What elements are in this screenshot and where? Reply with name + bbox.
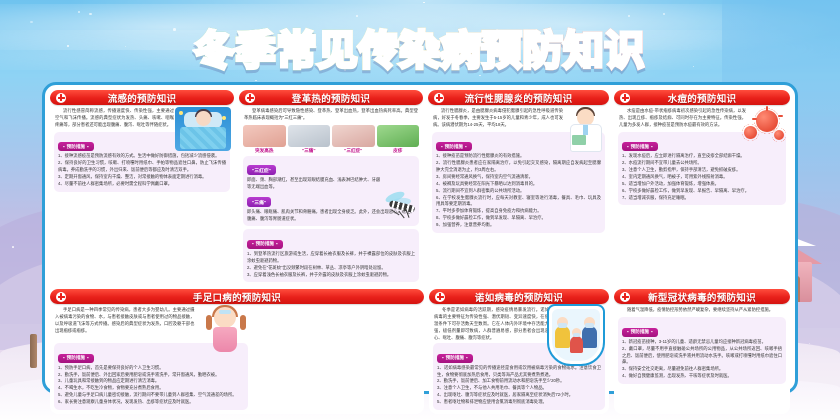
fever-face-photo bbox=[243, 125, 286, 147]
panel-title-norovirus: 诺如病毒的预防知识 bbox=[445, 290, 593, 304]
virus-illustration bbox=[742, 106, 788, 146]
panel-norovirus: 诺如病毒的预防知识 冬季是诺如病毒的活跃期，感染疫情易暴发流行。诺如病毒的主要特… bbox=[429, 289, 609, 414]
red-flush-photo bbox=[332, 125, 375, 147]
panel-header-flu: 流感的预防知识 bbox=[50, 90, 234, 105]
panel-hfmd: 手足口病的预防知识 手足口病是一种四季常见的传染病，患者大多为婴幼儿。主要通过摄… bbox=[50, 289, 424, 414]
panel-mumps: 流行性腮腺炎的预防知识 流行性腮腺炎，是由腮腺炎病毒侵犯腮腺引起的急性呼吸道传染… bbox=[428, 90, 609, 285]
measures-list-chickenpox: 1、发现水痘后，应立即进行隔离治疗，直至皮疹全部结痂干燥。2、水痘流行期间不宜带… bbox=[622, 153, 782, 201]
content-board: 流感的预防知识 流行性感冒简称流感，传播速度快、传染性强，主要通过空气和飞沫传播… bbox=[42, 82, 798, 394]
panel-title-flu: 流感的预防知识 bbox=[66, 91, 218, 105]
measure-item: 1、到登革热流行区旅游或生活，应穿着长袖衣服及长裤，并于裸露部位的皮肤及衣服上涂… bbox=[247, 251, 415, 265]
measures-list-flu: 1、接种流感疫苗是预防流感有效的方式。生活中做好防御措施，包括减少流感侵袭。2、… bbox=[58, 153, 226, 187]
measures-list-covid: 1、新冠疫苗接种，3-11岁的儿童、适龄无禁忌儿童均应接种新冠病毒疫苗。2、戴口… bbox=[622, 339, 782, 380]
panel-header-mumps: 流行性腮腺炎的预防知识 bbox=[428, 90, 609, 105]
panel-title-covid: 新型冠状病毒的预防知识 bbox=[630, 290, 774, 304]
panel-header-dengue: 登革热的预防知识 bbox=[239, 90, 423, 105]
measure-item: 2、避免在"花斑蚊"出没频繁时段在树林、草丛、凉亭等户外阴暗处逗留。 bbox=[247, 265, 415, 272]
measure-item: 1、诺如病毒感染最常见的传播途径是食用或饮用被病毒污染的食物或水。注意饮食卫生，… bbox=[437, 365, 601, 379]
panel-title-mumps: 流行性腮腺炎的预防知识 bbox=[444, 91, 593, 105]
measure-item: 6、学校多做好晨检工作，做到早发现、早报告、早隔离、早治疗。 bbox=[622, 188, 782, 195]
panel-intro-dengue: 登革病毒感染后可导致隐性感染、登革热、登革出血热，登革出血热病死率高。典型登革热… bbox=[239, 105, 423, 123]
body-pain-photo bbox=[288, 125, 331, 147]
panel-intro-covid: 随着气温降低，疫情防控形势依然严峻复杂，要继续坚持从严从紧防控措施。 bbox=[614, 304, 790, 315]
wooden-post bbox=[30, 334, 37, 368]
panel-covid: 新型冠状病毒的预防知识 随着气温降低，疫情防控形势依然严峻复杂，要继续坚持从严从… bbox=[614, 289, 790, 414]
panel-title-chickenpox: 水痘的预防知识 bbox=[630, 91, 774, 105]
sick-person-in-bed-illustration bbox=[175, 107, 231, 151]
panel-chickenpox: 水痘的预防知识 水痘是由水痘-带状疱疹病毒初次感染引起的急性传染病，以发热、出现… bbox=[614, 90, 790, 285]
measures-label: 预防措施 bbox=[436, 142, 472, 151]
measure-item: 3、应穿着浅色长袖衣服及长裤，并于外露的皮肤及衣服上涂蚊虫驱避药物。 bbox=[247, 272, 415, 279]
measures-label: 预防措施 bbox=[58, 354, 94, 363]
measures-label: 预防措施 bbox=[622, 142, 658, 151]
symptom-image-row: 突发高热 "三痛" "三红症" 皮疹 bbox=[239, 123, 423, 154]
measures-label: 预防措施 bbox=[247, 240, 283, 249]
subsection-tag-three-red: "三红症" bbox=[247, 165, 276, 175]
measure-item: 5、适当增加户外活动，加强体育锻炼，增强体质。 bbox=[622, 181, 782, 188]
panel-title-hfmd: 手足口病的预防知识 bbox=[66, 290, 408, 304]
measure-item: 4、被褥及玩具要经常在阳光下暴晒以达到消毒目的。 bbox=[436, 181, 601, 188]
measures-label: 预防措施 bbox=[58, 142, 94, 151]
medical-cross-icon bbox=[245, 93, 255, 103]
measures-list-hfmd: 1、预防手足口病，首先是要保持良好的个人卫生习惯。2、勤洗手，饭前便后、外出回家… bbox=[58, 365, 244, 406]
family-shield-illustration bbox=[547, 304, 605, 366]
symptom-caption: 皮疹 bbox=[377, 148, 420, 154]
measures-list-dengue: 1、到登革热流行区旅游或生活，应穿着长袖衣服及长裤，并于裸露部位的皮肤及衣服上涂… bbox=[247, 251, 415, 279]
medical-cross-icon bbox=[56, 93, 66, 103]
panel-flu: 流感的预防知识 流行性感冒简称流感，传播速度快、传染性强，主要通过空气和飞沫传播… bbox=[50, 90, 234, 285]
panel-row-bottom: 手足口病的预防知识 手足口病是一种四季常见的传染病，患者大多为婴幼儿。主要通过摄… bbox=[50, 289, 790, 414]
measure-item: 3、注意个人卫生，勤剪指甲，保持手部清洁，避免抓破皮疹。 bbox=[622, 167, 782, 174]
panel-header-hfmd: 手足口病的预防知识 bbox=[50, 289, 424, 304]
measures-box-covid: 预防措施 1、新冠疫苗接种，3-11岁的儿童、适龄无禁忌儿童均应接种新冠病毒疫苗… bbox=[618, 317, 786, 384]
medical-cross-icon bbox=[434, 93, 444, 103]
medical-cross-icon bbox=[435, 292, 445, 302]
symptom-caption: "三红症" bbox=[332, 148, 375, 154]
measure-item: 5、患者呕吐物和排泄物应使用含氯消毒剂彻底消毒处理。 bbox=[437, 399, 601, 406]
medical-cross-icon bbox=[56, 292, 66, 302]
measure-item: 6、在学校发生腮腺炎流行时，应每天对教室、寝室等进行消毒，餐具、毛巾、玩具及用具… bbox=[436, 195, 601, 209]
symptom-caption: "三痛" bbox=[288, 148, 331, 154]
measure-item: 3、定期开窗通风，保持室内干燥、整洁，对常接触的物体表面定期进行消毒。 bbox=[58, 174, 226, 181]
symptom-caption: 突发高热 bbox=[243, 148, 286, 154]
measure-item: 2、流行性腮腺炎患者应在家隔离治疗，以免引起交叉感染，隔离期应自发病起至腮腺肿大… bbox=[436, 160, 601, 174]
symptom-cell: "三痛" bbox=[288, 125, 331, 154]
poster-title-wrap: 冬季常见传染病预防知识 bbox=[0, 18, 840, 76]
measure-item: 4、做好自我健康监测，出现发热、干咳等症状及时就医。 bbox=[622, 373, 782, 380]
measures-box-dengue: 预防措施 1、到登革热流行区旅游或生活，应穿着长袖衣服及长裤，并于裸露部位的皮肤… bbox=[243, 229, 419, 282]
panel-dengue: 登革热的预防知识 登革病毒感染后可导致隐性感染、登革热、登革出血热，登革出血热病… bbox=[239, 90, 423, 285]
sick-child-illustration bbox=[204, 305, 248, 359]
panel-title-dengue: 登革热的预防知识 bbox=[255, 91, 407, 105]
mosquito-illustration bbox=[375, 189, 419, 223]
measure-item: 9、加强营养，注意营养均衡。 bbox=[436, 222, 601, 229]
measures-list-norovirus: 1、诺如病毒感染最常见的传播途径是食用或饮用被病毒污染的食物或水。注意饮食卫生，… bbox=[437, 365, 601, 406]
measure-item: 2、保持良好的卫生习惯，咳嗽、打喷嚏时用纸巾、手帕等物品遮住口鼻，防止飞沫传播病… bbox=[58, 160, 226, 174]
skin-rash-photo bbox=[377, 125, 420, 147]
measure-item: 4、尽量不前往人群密集场所，必要时需全程科学佩戴口罩。 bbox=[58, 181, 226, 188]
measure-item: 1、新冠疫苗接种，3-11岁的儿童、适龄无禁忌儿童均应接种新冠病毒疫苗。 bbox=[622, 339, 782, 346]
panel-header-covid: 新型冠状病毒的预防知识 bbox=[614, 289, 790, 304]
measure-item: 1、预防手足口病，首先是要保持良好的个人卫生习惯。 bbox=[58, 365, 244, 372]
measure-item: 2、戴口罩，尽量不用手直接触碰公共场所的公用物品，从公共场所返回、咳嗽手捂之后、… bbox=[622, 346, 782, 367]
subsection-tag-three-pain: "三痛" bbox=[247, 197, 271, 207]
measures-label: 预防措施 bbox=[622, 328, 658, 337]
symptom-cell: "三红症" bbox=[332, 125, 375, 154]
measures-label: 预防措施 bbox=[437, 354, 473, 363]
symptom-cell: 突发高热 bbox=[243, 125, 286, 154]
measure-item: 3、房间要经常通风换气，保持室内空气流通清新。 bbox=[436, 174, 601, 181]
medical-cross-icon bbox=[620, 292, 630, 302]
measure-item: 5、流行期间不宜到人群密集的公共场所活动。 bbox=[436, 188, 601, 195]
panel-header-norovirus: 诺如病毒的预防知识 bbox=[429, 289, 609, 304]
page-title: 冬季常见传染病预防知识 bbox=[195, 18, 646, 76]
panel-header-chickenpox: 水痘的预防知识 bbox=[614, 90, 790, 105]
doctor-illustration bbox=[565, 106, 607, 154]
panel-row-top: 流感的预防知识 流行性感冒简称流感，传播速度快、传染性强，主要通过空气和飞沫传播… bbox=[50, 90, 790, 285]
measure-item: 4、室内定期通风换气，晒被子，可用紫外线照射消毒。 bbox=[622, 174, 782, 181]
measure-item: 6、家长要注意观察儿童身体状况，发现发热、出疹等症状应及时就医。 bbox=[58, 399, 244, 406]
symptom-cell: 皮疹 bbox=[377, 125, 420, 154]
measures-list-mumps: 1、接种疫苗是预防流行性腮腺炎的有效措施。2、流行性腮腺炎患者应在家隔离治疗，以… bbox=[436, 153, 601, 229]
measure-item: 7、适当增减衣服，保持充足睡眠。 bbox=[622, 195, 782, 202]
medical-cross-icon bbox=[620, 93, 630, 103]
